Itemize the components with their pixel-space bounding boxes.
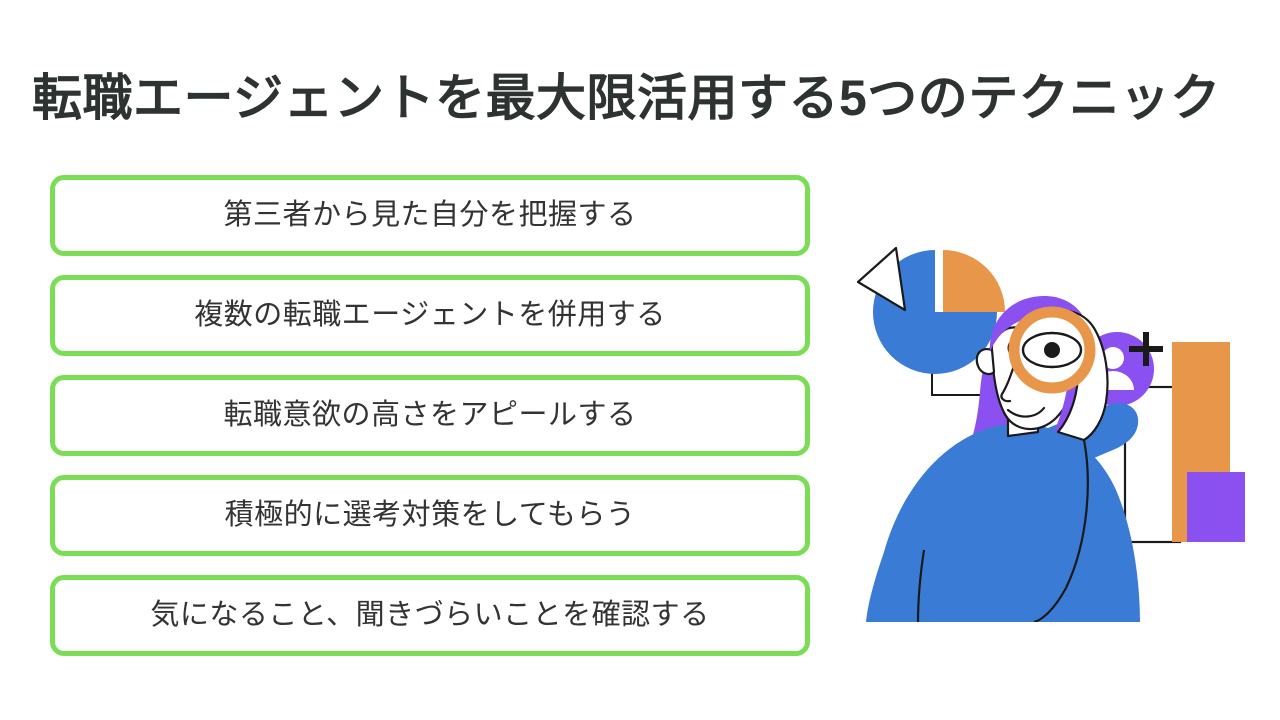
bar-purple	[1187, 472, 1245, 542]
tip-label-5: 気になること、聞きづらいことを確認する	[150, 601, 709, 630]
magnifying-glass	[1014, 312, 1090, 388]
tip-box-3[interactable]: 転職意欲の高さをアピールする	[50, 375, 810, 456]
tip-box-5[interactable]: 気になること、聞きづらいことを確認する	[50, 575, 810, 656]
tip-label-4: 積極的に選考対策をしてもらう	[225, 501, 636, 530]
tips-list: 第三者から見た自分を把握する 複数の転職エージェントを併用する 転職意欲の高さを…	[50, 175, 810, 656]
page-title: 転職エージェントを最大限活用する5つのテクニック	[32, 70, 1252, 128]
pie-slice-orange	[943, 250, 1005, 312]
tip-box-2[interactable]: 複数の転職エージェントを併用する	[50, 275, 810, 356]
tip-label-2: 複数の転職エージェントを併用する	[194, 301, 665, 330]
ear	[977, 349, 994, 374]
tip-label-3: 転職意欲の高さをアピールする	[223, 401, 636, 430]
tip-box-4[interactable]: 積極的に選考対策をしてもらう	[50, 475, 810, 556]
magnified-eye-pupil	[1044, 342, 1060, 358]
tip-label-1: 第三者から見た自分を把握する	[223, 201, 636, 230]
slide-root: 転職エージェントを最大限活用する5つのテクニック 第三者から見た自分を把握する …	[0, 0, 1280, 720]
tip-box-1[interactable]: 第三者から見た自分を把握する	[50, 175, 810, 256]
woman-with-magnifier-illustration	[840, 232, 1260, 622]
